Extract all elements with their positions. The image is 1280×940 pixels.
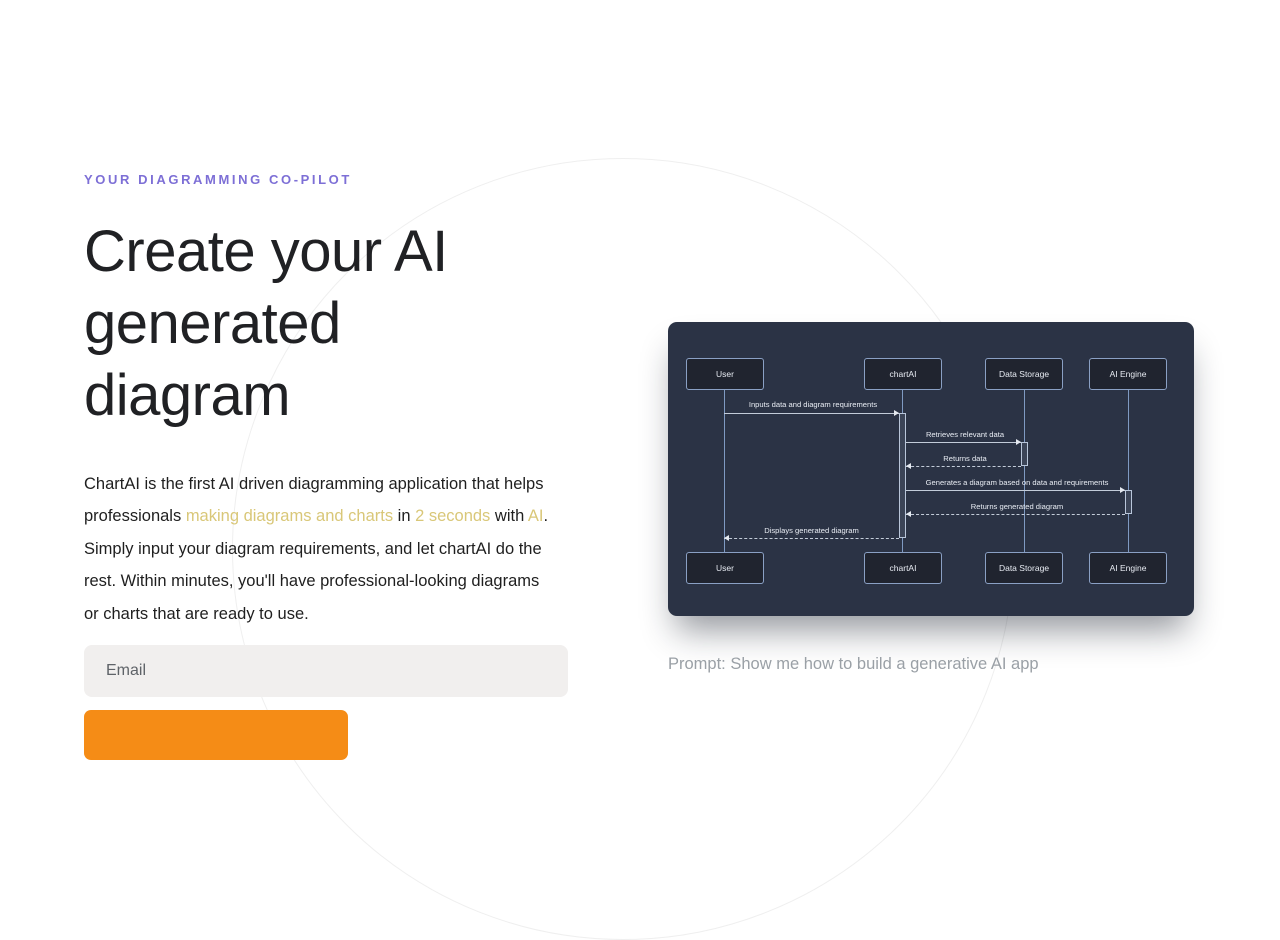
diagram-preview: User chartAI Data Storage AI Engine User…: [668, 322, 1194, 616]
message-label-5: Returns generated diagram: [906, 502, 1128, 511]
message-label-4: Generates a diagram based on data and re…: [906, 478, 1128, 487]
description-segment-2: in: [393, 507, 415, 525]
message-line-4: [906, 490, 1125, 491]
actor-bottom-user: User: [686, 552, 764, 584]
actor-top-ai-engine: AI Engine: [1089, 358, 1167, 390]
actor-label: chartAI: [890, 563, 917, 573]
message-arrow-2: [1016, 439, 1021, 445]
sequence-diagram-card: User chartAI Data Storage AI Engine User…: [668, 322, 1194, 616]
message-arrow-6: [724, 535, 729, 541]
description-segment-3: with: [490, 507, 528, 525]
actor-label: Data Storage: [999, 563, 1049, 573]
message-line-3: [906, 466, 1021, 467]
headline-line-2: generated diagram: [84, 291, 341, 428]
actor-label: User: [716, 369, 734, 379]
hero-description: ChartAI is the first AI driven diagrammi…: [84, 468, 556, 631]
lifeline-ai-engine: [1128, 390, 1129, 568]
actor-bottom-ai-engine: AI Engine: [1089, 552, 1167, 584]
message-label-6: Displays generated diagram: [724, 526, 899, 535]
actor-bottom-data-storage: Data Storage: [985, 552, 1063, 584]
message-line-5: [906, 514, 1125, 515]
message-line-1: [724, 413, 899, 414]
actor-top-data-storage: Data Storage: [985, 358, 1063, 390]
highlight-ai: AI: [528, 507, 544, 525]
hero-text-column: YOUR DIAGRAMMING CO-PILOT Create your AI…: [84, 172, 584, 630]
lifeline-user: [724, 390, 725, 568]
signup-form: [84, 645, 568, 760]
actor-label: Data Storage: [999, 369, 1049, 379]
eyebrow-label: YOUR DIAGRAMMING CO-PILOT: [84, 172, 584, 188]
highlight-two-seconds: 2 seconds: [415, 507, 490, 525]
message-label-3: Returns data: [906, 454, 1024, 463]
submit-button[interactable]: [84, 710, 348, 760]
actor-top-user: User: [686, 358, 764, 390]
actor-label: User: [716, 563, 734, 573]
email-field[interactable]: [84, 645, 568, 697]
page-title: Create your AI generated diagram: [84, 216, 554, 432]
actor-label: chartAI: [890, 369, 917, 379]
activation-bar-chartai: [899, 413, 906, 538]
message-arrow-5: [906, 511, 911, 517]
actor-label: AI Engine: [1110, 369, 1147, 379]
message-arrow-1: [894, 410, 899, 416]
message-label-1: Inputs data and diagram requirements: [724, 400, 902, 409]
headline-line-1: Create your AI: [84, 219, 448, 284]
message-line-6: [724, 538, 899, 539]
message-arrow-3: [906, 463, 911, 469]
message-label-2: Retrieves relevant data: [906, 430, 1024, 439]
actor-label: AI Engine: [1110, 563, 1147, 573]
prompt-caption: Prompt: Show me how to build a generativ…: [668, 655, 1039, 674]
hero-section: YOUR DIAGRAMMING CO-PILOT Create your AI…: [0, 0, 1280, 720]
actor-bottom-chartai: chartAI: [864, 552, 942, 584]
message-line-2: [906, 442, 1021, 443]
message-arrow-4: [1120, 487, 1125, 493]
actor-top-chartai: chartAI: [864, 358, 942, 390]
highlight-diagrams-charts: making diagrams and charts: [186, 507, 393, 525]
